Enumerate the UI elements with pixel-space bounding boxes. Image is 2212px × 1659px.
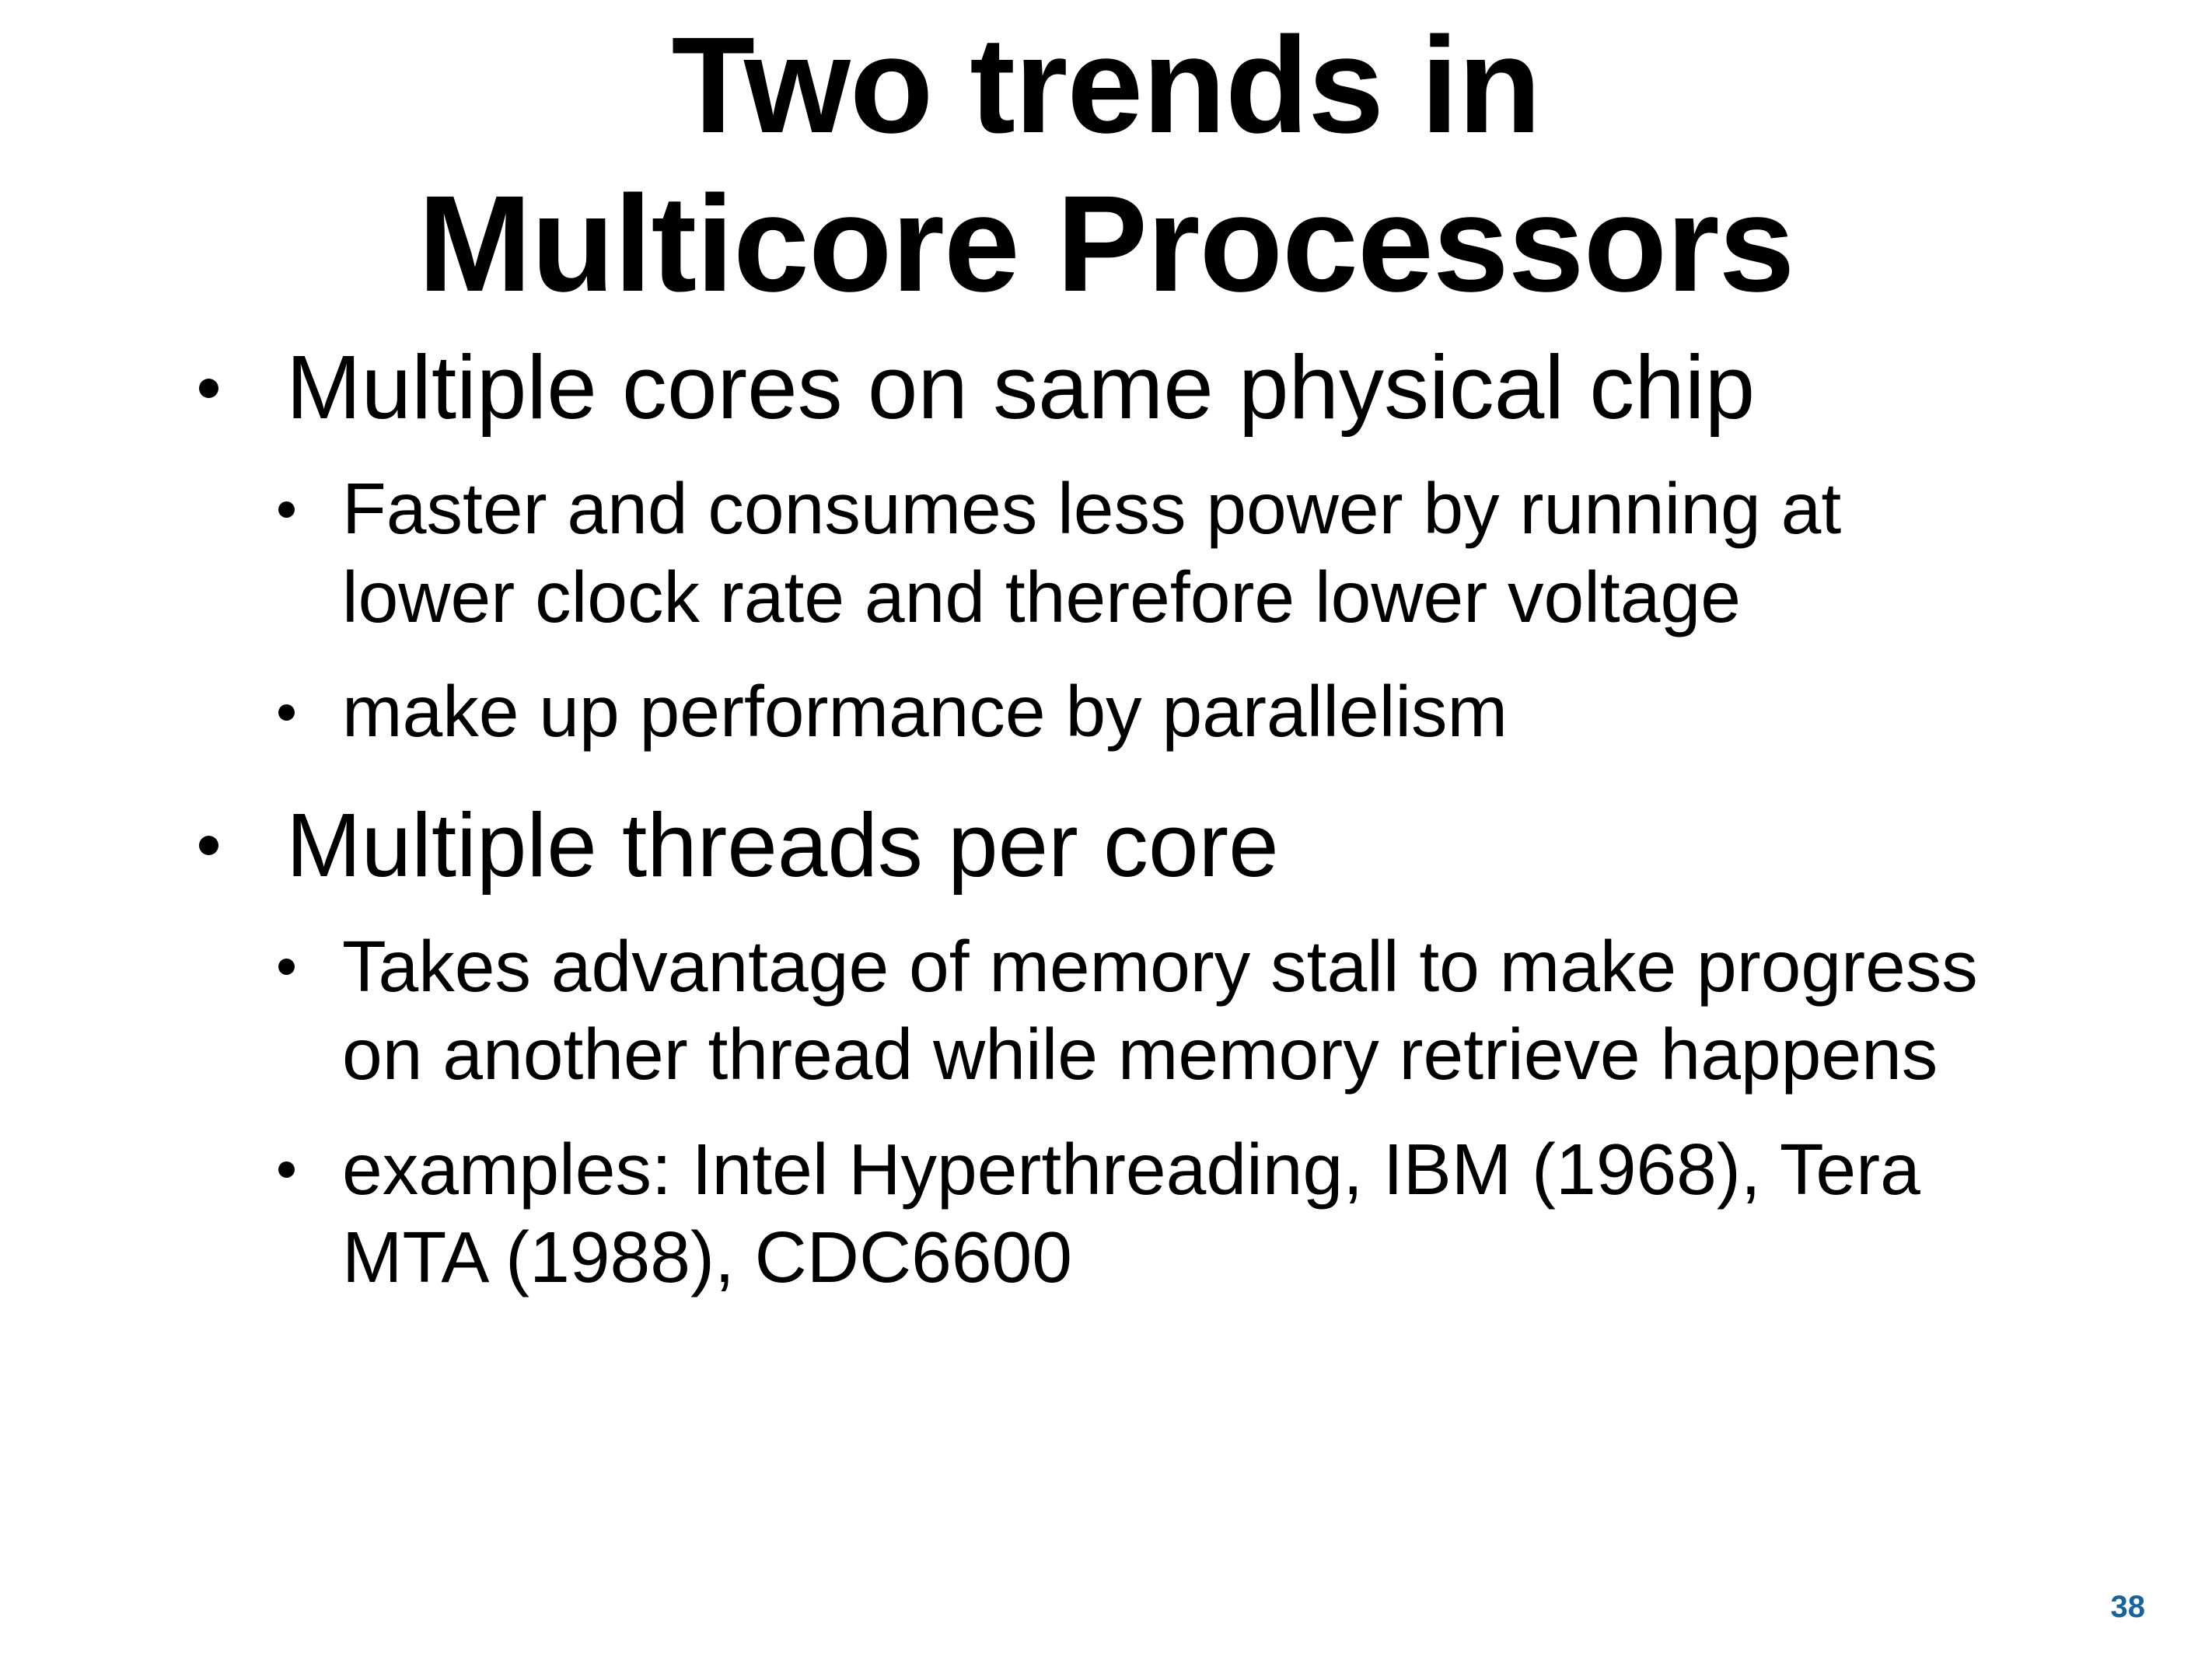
bullet-dot-icon — [278, 704, 295, 721]
bullet-level2-label: examples: Intel Hyperthreading, IBM (196… — [342, 1126, 2014, 1302]
bullet-level1-item: Multiple cores on same physical chip — [194, 336, 2014, 438]
bullet-level1-item: Multiple threads per core — [194, 794, 2014, 896]
bullet-level2-list: Takes advantage of memory stall to make … — [194, 923, 2014, 1302]
bullet-level2-item: Faster and consumes less power by runnin… — [194, 465, 2014, 641]
bullet-dot-icon — [278, 501, 295, 518]
bullet-dot-icon — [278, 1161, 295, 1178]
bullet-level1-label: Multiple threads per core — [286, 794, 2014, 896]
bullet-level2-item: Takes advantage of memory stall to make … — [194, 923, 2014, 1099]
bullet-level2-item: examples: Intel Hyperthreading, IBM (196… — [194, 1126, 2014, 1302]
bullet-level2-list: Faster and consumes less power by runnin… — [194, 465, 2014, 756]
slide-title: Two trends in Multicore Processors — [0, 6, 2212, 323]
slide: Two trends in Multicore Processors Multi… — [0, 0, 2212, 1659]
bullet-level2-label: Faster and consumes less power by runnin… — [342, 465, 2014, 641]
title-line-1: Two trends in — [0, 6, 2212, 165]
bullet-level1-label: Multiple cores on same physical chip — [286, 336, 2014, 438]
bullet-level2-label: Takes advantage of memory stall to make … — [342, 923, 2014, 1099]
page-number: 38 — [2111, 1590, 2146, 1625]
bullet-dot-icon — [199, 379, 218, 398]
bullet-level2-item: make up performance by parallelism — [194, 668, 2014, 756]
bullet-dot-icon — [199, 836, 218, 855]
bullet-level2-label: make up performance by parallelism — [342, 668, 2014, 756]
title-line-2: Multicore Processors — [0, 165, 2212, 323]
slide-body: Multiple cores on same physical chip Fas… — [194, 336, 2014, 1302]
bullet-dot-icon — [278, 959, 295, 975]
